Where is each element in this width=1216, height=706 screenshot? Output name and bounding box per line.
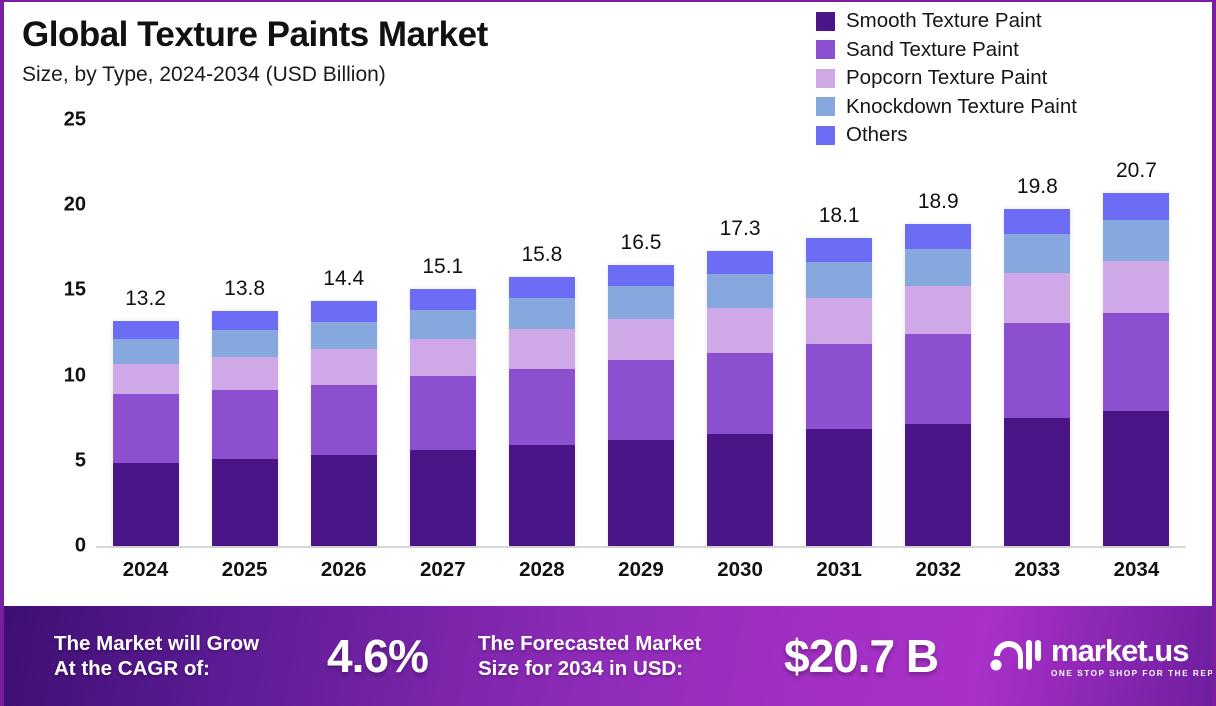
chart-plot-area: 0510152025 13.2202413.8202514.4202615.12… — [4, 2, 1216, 602]
bar-segment[interactable] — [410, 450, 476, 546]
bar-segment[interactable] — [608, 265, 674, 286]
bar-series-container: 13.2202413.8202514.4202615.1202715.82028… — [96, 120, 1186, 546]
bar-segment[interactable] — [806, 429, 872, 546]
x-axis-line — [96, 546, 1186, 548]
x-axis-tick-label: 2034 — [1114, 558, 1160, 582]
stacked-bar[interactable] — [410, 289, 476, 546]
market-us-logo[interactable]: market.us ONE STOP SHOP FOR THE REPORTS — [988, 634, 1216, 679]
x-axis-tick-label: 2032 — [915, 558, 961, 582]
stacked-bar[interactable] — [212, 311, 278, 546]
y-axis-tick-label: 15 — [64, 279, 86, 302]
bar-segment[interactable] — [1103, 313, 1169, 411]
bar-segment[interactable] — [311, 301, 377, 322]
bar-group[interactable]: 19.82033 — [988, 120, 1087, 546]
bar-segment[interactable] — [806, 298, 872, 344]
bar-segment[interactable] — [806, 262, 872, 298]
logo-wordmark: market.us — [1051, 635, 1216, 666]
bar-segment[interactable] — [410, 289, 476, 310]
bar-segment[interactable] — [212, 390, 278, 459]
bar-segment[interactable] — [311, 455, 377, 546]
bar-segment[interactable] — [608, 360, 674, 439]
bar-group[interactable]: 18.92032 — [889, 120, 988, 546]
bar-segment[interactable] — [212, 311, 278, 331]
bar-total-label: 18.9 — [918, 190, 959, 214]
bar-total-label: 13.2 — [125, 287, 166, 311]
bar-segment[interactable] — [311, 322, 377, 349]
bar-segment[interactable] — [1103, 411, 1169, 546]
stacked-bar[interactable] — [113, 321, 179, 546]
bar-total-label: 13.8 — [224, 277, 265, 301]
bottom-banner: The Market will Grow At the CAGR of: 4.6… — [4, 606, 1216, 706]
bar-segment[interactable] — [905, 224, 971, 249]
x-axis-tick-label: 2033 — [1015, 558, 1061, 582]
bar-segment[interactable] — [509, 445, 575, 546]
cagr-caption-line1: The Market will Grow — [54, 631, 259, 656]
forecast-caption-block: The Forecasted Market Size for 2034 in U… — [478, 631, 701, 681]
bar-segment[interactable] — [1004, 323, 1070, 418]
bar-segment[interactable] — [905, 424, 971, 546]
infographic-page: Global Texture Paints Market Size, by Ty… — [0, 0, 1216, 706]
bar-segment[interactable] — [905, 286, 971, 334]
bar-segment[interactable] — [1004, 209, 1070, 235]
bar-segment[interactable] — [113, 339, 179, 364]
bar-segment[interactable] — [509, 369, 575, 445]
y-axis: 0510152025 — [38, 120, 86, 546]
bar-segment[interactable] — [905, 334, 971, 424]
cagr-value: 4.6% — [327, 629, 428, 683]
bar-segment[interactable] — [608, 440, 674, 547]
bar-segment[interactable] — [410, 376, 476, 449]
bar-group[interactable]: 18.12031 — [790, 120, 889, 546]
bar-segment[interactable] — [410, 310, 476, 339]
logo-mark-icon — [988, 634, 1042, 679]
cagr-caption-block: The Market will Grow At the CAGR of: — [54, 631, 259, 681]
bar-segment[interactable] — [1004, 273, 1070, 322]
bar-segment[interactable] — [113, 463, 179, 546]
bar-segment[interactable] — [509, 298, 575, 329]
stacked-bar[interactable] — [707, 251, 773, 546]
y-axis-tick-label: 25 — [64, 109, 86, 132]
stacked-bar[interactable] — [1103, 193, 1169, 546]
bar-segment[interactable] — [608, 286, 674, 318]
bar-segment[interactable] — [212, 459, 278, 546]
logo-tagline: ONE STOP SHOP FOR THE REPORTS — [1051, 669, 1216, 678]
x-axis-tick-label: 2029 — [618, 558, 664, 582]
bar-segment[interactable] — [707, 434, 773, 546]
bar-total-label: 18.1 — [819, 204, 860, 228]
bar-total-label: 20.7 — [1116, 159, 1157, 183]
x-axis-tick-label: 2024 — [123, 558, 169, 582]
bar-segment[interactable] — [410, 339, 476, 376]
bar-group[interactable]: 13.22024 — [96, 120, 195, 546]
bar-segment[interactable] — [707, 251, 773, 274]
stacked-bar[interactable] — [311, 301, 377, 546]
y-axis-tick-label: 20 — [64, 194, 86, 217]
x-axis-tick-label: 2027 — [420, 558, 466, 582]
logo-text: market.us ONE STOP SHOP FOR THE REPORTS — [1051, 635, 1216, 678]
y-axis-tick-label: 0 — [75, 535, 86, 558]
bar-segment[interactable] — [806, 344, 872, 429]
bar-segment[interactable] — [905, 249, 971, 286]
bar-total-label: 15.8 — [521, 243, 562, 267]
bar-segment[interactable] — [113, 364, 179, 394]
bar-total-label: 19.8 — [1017, 175, 1058, 199]
x-axis-tick-label: 2025 — [222, 558, 268, 582]
bar-segment[interactable] — [1004, 418, 1070, 546]
x-axis-tick-label: 2026 — [321, 558, 367, 582]
bar-segment[interactable] — [707, 274, 773, 308]
bar-segment[interactable] — [509, 277, 575, 298]
bar-segment[interactable] — [608, 319, 674, 361]
x-axis-tick-label: 2031 — [816, 558, 862, 582]
forecast-caption-line2: Size for 2034 in USD: — [478, 656, 701, 681]
bar-segment[interactable] — [212, 357, 278, 390]
stacked-bar[interactable] — [806, 238, 872, 546]
bar-group[interactable]: 15.82028 — [492, 120, 591, 546]
bar-segment[interactable] — [1103, 193, 1169, 219]
bar-group[interactable]: 20.72034 — [1087, 120, 1186, 546]
forecast-value: $20.7 B — [784, 629, 938, 683]
bar-group[interactable]: 15.12027 — [393, 120, 492, 546]
stacked-bar[interactable] — [509, 277, 575, 546]
forecast-caption-line1: The Forecasted Market — [478, 631, 701, 656]
stacked-bar[interactable] — [608, 265, 674, 546]
x-axis-tick-label: 2030 — [717, 558, 763, 582]
bar-segment[interactable] — [707, 308, 773, 352]
y-axis-tick-label: 5 — [75, 449, 86, 472]
cagr-caption: The Market will Grow At the CAGR of: — [54, 631, 259, 681]
bar-segment[interactable] — [1103, 220, 1169, 261]
bar-segment[interactable] — [113, 394, 179, 464]
bar-segment[interactable] — [113, 321, 179, 339]
x-axis-tick-label: 2028 — [519, 558, 565, 582]
bar-segment[interactable] — [311, 385, 377, 455]
stacked-bar[interactable] — [905, 224, 971, 546]
forecast-caption: The Forecasted Market Size for 2034 in U… — [478, 631, 701, 681]
bar-group[interactable]: 14.42026 — [294, 120, 393, 546]
cagr-caption-line2: At the CAGR of: — [54, 656, 259, 681]
bar-total-label: 16.5 — [621, 231, 662, 255]
bar-total-label: 17.3 — [720, 217, 761, 241]
stacked-bar[interactable] — [1004, 209, 1070, 546]
bar-segment[interactable] — [212, 330, 278, 356]
bar-group[interactable]: 17.32030 — [691, 120, 790, 546]
bar-segment[interactable] — [806, 238, 872, 263]
bar-segment[interactable] — [707, 353, 773, 435]
bar-total-label: 14.4 — [323, 267, 364, 291]
bar-total-label: 15.1 — [422, 255, 463, 279]
y-axis-tick-label: 10 — [64, 364, 86, 387]
bar-segment[interactable] — [1004, 234, 1070, 273]
bar-group[interactable]: 13.82025 — [195, 120, 294, 546]
bar-segment[interactable] — [1103, 261, 1169, 314]
bar-segment[interactable] — [509, 329, 575, 369]
bar-segment[interactable] — [311, 349, 377, 385]
bar-group[interactable]: 16.52029 — [591, 120, 690, 546]
